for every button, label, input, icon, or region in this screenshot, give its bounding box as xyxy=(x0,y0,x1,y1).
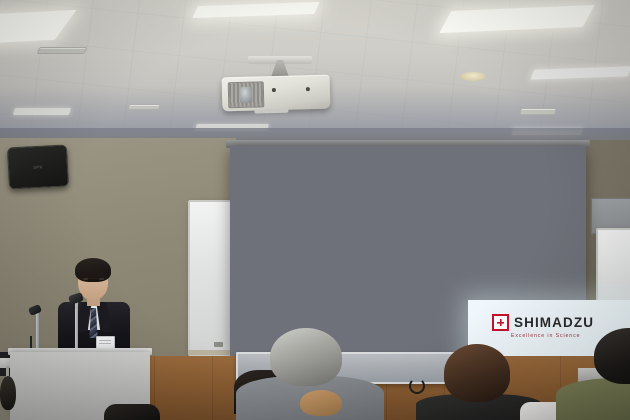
shimadzu-tagline: Excellence in Science xyxy=(511,333,594,339)
audience-far-left xyxy=(0,376,16,410)
audience-light-brown xyxy=(300,390,342,416)
wall-speaker: SPK xyxy=(7,144,69,189)
ceiling-light-panel xyxy=(13,108,71,115)
presenter-eye xyxy=(99,278,104,280)
badge-line xyxy=(99,343,111,344)
shimadzu-logo-text: SHIMADZU xyxy=(514,316,594,330)
speaker-brand-label: SPK xyxy=(33,164,43,169)
audience-back-row xyxy=(104,404,160,420)
shimadzu-logo: SHIMADZU Excellence in Science xyxy=(492,314,594,339)
ceiling-vent xyxy=(37,47,88,54)
ceiling-vent xyxy=(127,104,161,110)
ceiling-projector xyxy=(222,75,331,112)
ceiling-dome-fixture xyxy=(460,72,486,81)
shimadzu-cross-mark-icon xyxy=(492,314,509,331)
whiteboard-tray xyxy=(188,350,236,355)
conference-room-photo: SPK xyxy=(0,0,630,420)
audience-dark-haired-right-body xyxy=(556,378,630,420)
ceiling-vent xyxy=(519,108,557,115)
audience-brown-haired-center xyxy=(444,344,510,402)
projector-indicator xyxy=(306,87,310,91)
projection-screen: SHIMADZU Excellence in Science 自己紹介・リピドで… xyxy=(230,146,586,356)
badge-line xyxy=(99,340,111,341)
board-hook xyxy=(409,378,425,394)
presenter-eye xyxy=(83,278,88,280)
whiteboard-magnet xyxy=(214,342,223,347)
projector-lens xyxy=(228,81,265,108)
projector-indicator xyxy=(272,88,276,92)
audience-gray-haired xyxy=(270,328,342,386)
